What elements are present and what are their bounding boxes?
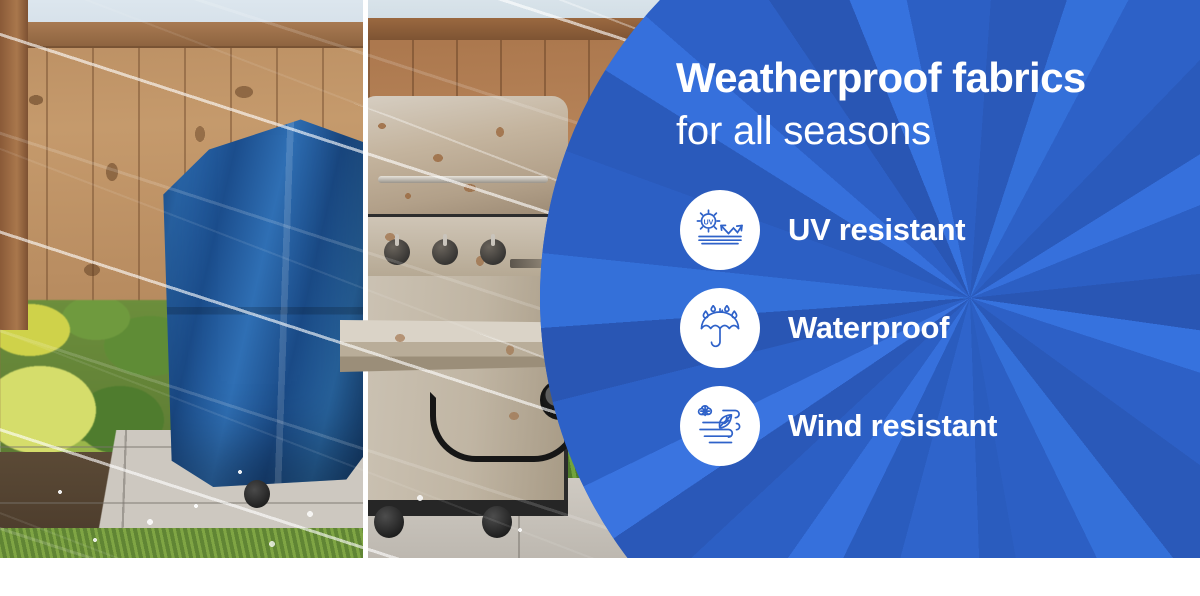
grill-cart-cabinet [368, 276, 568, 506]
feature-item-uv-resistant: UV UV resistant [680, 190, 997, 270]
grill-with-cover-photo [0, 0, 363, 558]
copy-block: Weatherproof fabrics for all seasons [676, 56, 1176, 155]
burner-knob [480, 239, 506, 265]
grass-strip-left [0, 528, 363, 558]
feature-item-waterproof: Waterproof [680, 288, 997, 368]
feature-list: UV UV resistant [680, 190, 997, 484]
subheadline: for all seasons [676, 107, 1176, 155]
uv-sun-fabric-icon: UV [695, 208, 745, 252]
grill-caster-wheel-right [482, 506, 512, 538]
grill-caster-wheel-left [244, 480, 270, 508]
feature-item-wind-resistant: Wind resistant [680, 386, 997, 466]
weatherproof-fabrics-banner: Weatherproof fabrics for all seasons UV [0, 0, 1200, 596]
icon-badge: UV [680, 190, 760, 270]
icon-badge [680, 386, 760, 466]
icon-badge [680, 288, 760, 368]
wind-leaf-icon [695, 404, 745, 448]
photo-split-divider [363, 0, 368, 558]
fence-post-left [0, 0, 28, 330]
feature-label: Waterproof [788, 310, 949, 346]
feature-label: Wind resistant [788, 408, 997, 444]
svg-text:UV: UV [704, 219, 714, 226]
burner-knob [432, 239, 458, 265]
bottom-white-band [0, 558, 1200, 596]
grill-lid-handle [378, 176, 548, 183]
grill-control-panel [368, 214, 568, 276]
feature-label: UV resistant [788, 212, 965, 248]
grill-lid [368, 96, 568, 214]
umbrella-raindrops-icon [697, 305, 743, 351]
burner-knob [384, 239, 410, 265]
headline: Weatherproof fabrics [676, 56, 1176, 101]
grill-caster-wheel-right [374, 506, 404, 538]
